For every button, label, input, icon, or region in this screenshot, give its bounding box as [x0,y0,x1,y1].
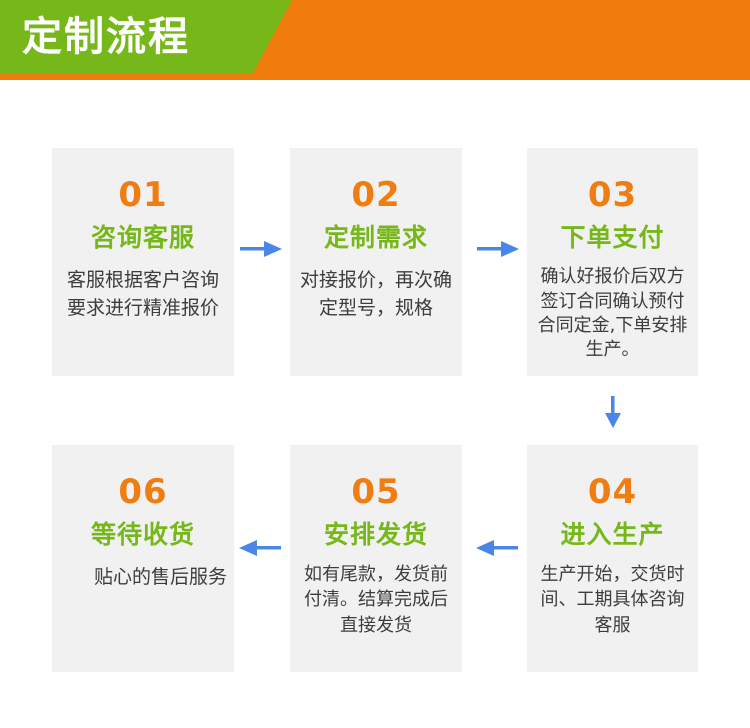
arrow-left-icon [474,537,518,559]
step-title: 等待收货 [58,519,228,550]
step-description: 生产开始，交货时间、工期具体咨询客服 [533,562,692,638]
step-number: 04 [533,445,692,509]
arrow-right-icon [477,238,521,260]
step-number: 05 [296,445,456,509]
step-title: 下单支付 [533,222,692,253]
page-title: 定制流程 [22,10,252,64]
step-number: 03 [533,148,692,212]
arrow-left-icon [237,537,281,559]
step-card-01: 01 咨询客服 客服根据客户咨询要求进行精准报价 [52,148,234,376]
step-card-03: 03 下单支付 确认好报价后双方签订合同确认预付合同定金,下单安排生产。 [527,148,698,376]
step-title: 进入生产 [533,519,692,550]
step-title: 定制需求 [296,222,456,253]
step-number: 06 [58,445,228,509]
arrow-down-icon [602,396,624,430]
step-card-06: 06 等待收货 贴心的售后服务 [52,445,234,672]
step-description: 贴心的售后服务 [58,564,228,592]
step-card-02: 02 定制需求 对接报价，再次确定型号，规格 [290,148,462,376]
step-card-05: 05 安排发货 如有尾款，发货前付清。结算完成后直接发货 [290,445,462,672]
step-title: 安排发货 [296,519,456,550]
step-description: 客服根据客户咨询要求进行精准报价 [58,267,228,322]
page-header-banner: 定制流程 [0,0,750,80]
step-card-04: 04 进入生产 生产开始，交货时间、工期具体咨询客服 [527,445,698,672]
step-description: 确认好报价后双方签订合同确认预付合同定金,下单安排生产。 [533,265,692,362]
step-number: 01 [58,148,228,212]
step-description: 如有尾款，发货前付清。结算完成后直接发货 [296,562,456,638]
step-number: 02 [296,148,456,212]
arrow-right-icon [240,238,284,260]
step-title: 咨询客服 [58,222,228,253]
step-description: 对接报价，再次确定型号，规格 [296,267,456,322]
